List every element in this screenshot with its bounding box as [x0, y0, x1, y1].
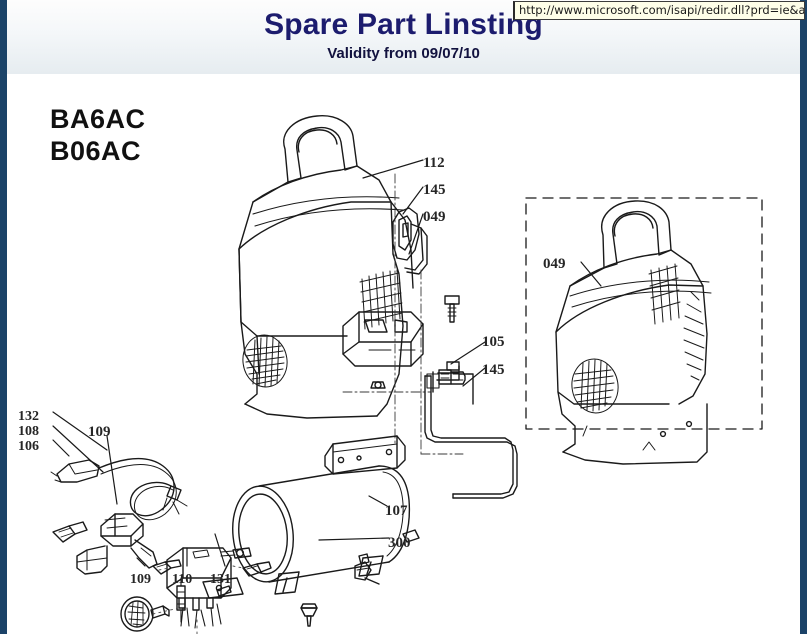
vent-grille-left: [240, 332, 291, 390]
housing-cover-inset: [526, 198, 762, 464]
callout-049b: 049: [543, 256, 566, 273]
inset-vent-left: [568, 356, 621, 416]
callout-109b: 109: [130, 572, 151, 588]
pressure-gauge: [121, 597, 169, 631]
fastener-small: [371, 382, 385, 388]
model-code-secondary: B06AC: [50, 136, 146, 168]
callout-105: 105: [482, 334, 505, 351]
callout-131: 131: [210, 572, 231, 588]
housing-mount-block: [343, 312, 423, 366]
spare-part-listing-page: Spare Part Linsting Validity from 09/07/…: [0, 0, 807, 634]
power-cord: [51, 459, 187, 520]
callout-107: 107: [385, 503, 408, 520]
bolt-049: [445, 296, 459, 322]
left-edge-bar: [0, 0, 7, 634]
callout-145: 145: [423, 182, 446, 199]
model-code-primary: BA6AC: [50, 104, 146, 136]
right-edge-bar: [800, 0, 807, 634]
tank-front-fitting: [221, 548, 251, 558]
model-code-block: BA6AC B06AC: [50, 104, 146, 168]
tank-fitting: [355, 554, 379, 584]
callout-110: 110: [172, 572, 192, 588]
callout-112: 112: [423, 155, 445, 172]
air-tank: [203, 436, 419, 626]
callout-049: 049: [423, 209, 446, 226]
callout-145b: 145: [482, 362, 505, 379]
callout-109: 109: [88, 424, 111, 441]
leader-lines: [53, 160, 601, 566]
inset-vent-shoulder: [649, 264, 680, 324]
drain-valve: [301, 604, 317, 626]
nipple-fitting: [53, 522, 87, 542]
callout-132: 132: [18, 409, 39, 425]
callout-106: 106: [18, 439, 39, 455]
regulator-valve: [53, 514, 181, 574]
page-subtitle: Validity from 09/07/10: [7, 45, 800, 62]
inset-vent-right: [684, 292, 704, 380]
callout-108: 108: [18, 424, 39, 440]
url-tooltip: http://www.microsoft.com/isapi/redir.dll…: [513, 1, 805, 20]
callout-300: 300: [388, 535, 411, 552]
delivery-tube: [425, 362, 517, 498]
